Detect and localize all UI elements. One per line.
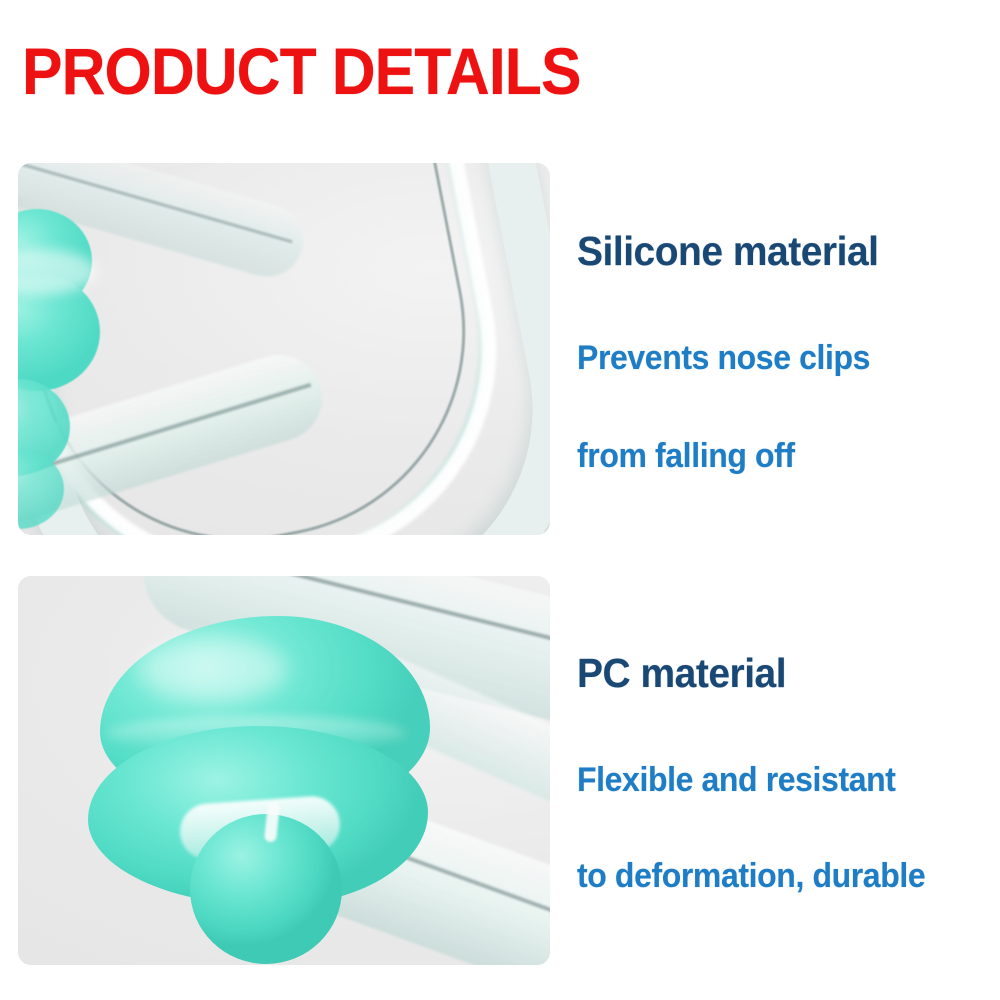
page-title: PRODUCT DETAILS — [22, 36, 581, 106]
pc-closeup-photo — [18, 576, 550, 965]
feature-pc-line-1: Flexible and resistant — [577, 760, 967, 800]
feature-silicone: Silicone material Prevents nose clips fr… — [577, 228, 992, 476]
product-photo-panel-silicone — [18, 163, 550, 535]
silicone-closeup-photo — [18, 163, 550, 535]
feature-pc-line-2: to deformation, durable — [577, 856, 967, 896]
feature-pc: PC material Flexible and resistant to de… — [577, 650, 992, 896]
silicone-pad-highlight — [138, 638, 288, 700]
feature-silicone-line-2: from falling off — [577, 436, 967, 476]
feature-silicone-heading: Silicone material — [577, 228, 971, 274]
feature-pc-heading: PC material — [577, 650, 971, 696]
product-photo-panel-pc — [18, 576, 550, 965]
feature-silicone-line-1: Prevents nose clips — [577, 338, 967, 378]
